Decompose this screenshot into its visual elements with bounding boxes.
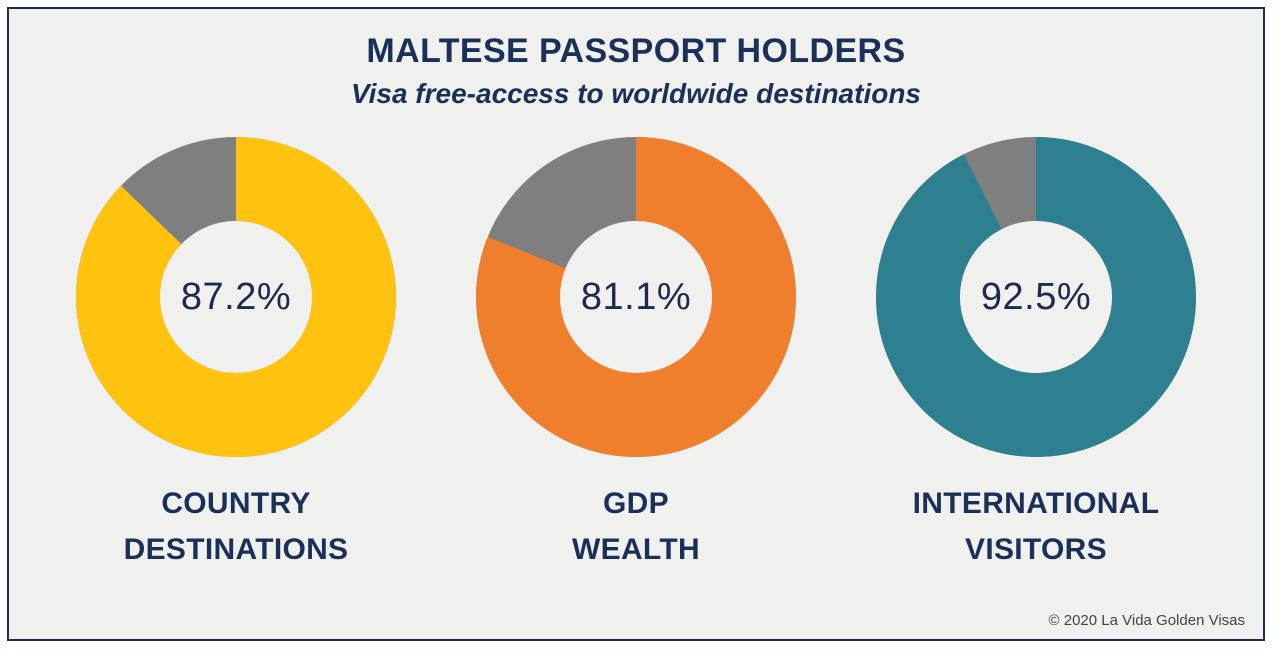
donut-graphic-international-visitors: 92.5%	[876, 137, 1196, 457]
donut-caption-international-visitors: INTERNATIONAL VISITORS	[913, 481, 1160, 573]
donut-caption-country-destinations: COUNTRY DESTINATIONS	[124, 481, 349, 573]
donut-chart-gdp-wealth: 81.1% GDP WEALTH	[436, 137, 836, 573]
donut-chart-international-visitors: 92.5% INTERNATIONAL VISITORS	[836, 137, 1236, 573]
donut-caption-line-1: GDP	[572, 481, 700, 527]
donut-svg-international-visitors	[876, 137, 1196, 457]
donut-caption-line-2: WEALTH	[572, 527, 700, 573]
donut-svg-country-destinations	[76, 137, 396, 457]
donut-chart-country-destinations: 87.2% COUNTRY DESTINATIONS	[36, 137, 436, 573]
page-subtitle: Visa free-access to worldwide destinatio…	[9, 75, 1263, 113]
donut-hole-gdp-wealth	[560, 221, 712, 373]
donut-chart-row: 87.2% COUNTRY DESTINATIONS 81.1% GDP WEA…	[9, 137, 1263, 573]
infographic-frame: MALTESE PASSPORT HOLDERS Visa free-acces…	[7, 7, 1265, 641]
donut-caption-line-1: INTERNATIONAL	[913, 481, 1160, 527]
page-title: MALTESE PASSPORT HOLDERS	[9, 31, 1263, 71]
donut-caption-line-2: VISITORS	[913, 527, 1160, 573]
donut-graphic-gdp-wealth: 81.1%	[476, 137, 796, 457]
donut-graphic-country-destinations: 87.2%	[76, 137, 396, 457]
donut-svg-gdp-wealth	[476, 137, 796, 457]
donut-caption-gdp-wealth: GDP WEALTH	[572, 481, 700, 573]
donut-caption-line-1: COUNTRY	[124, 481, 349, 527]
header: MALTESE PASSPORT HOLDERS Visa free-acces…	[9, 31, 1263, 113]
donut-hole-country-destinations	[160, 221, 312, 373]
donut-hole-international-visitors	[960, 221, 1112, 373]
donut-caption-line-2: DESTINATIONS	[124, 527, 349, 573]
copyright-text: © 2020 La Vida Golden Visas	[1049, 612, 1245, 629]
